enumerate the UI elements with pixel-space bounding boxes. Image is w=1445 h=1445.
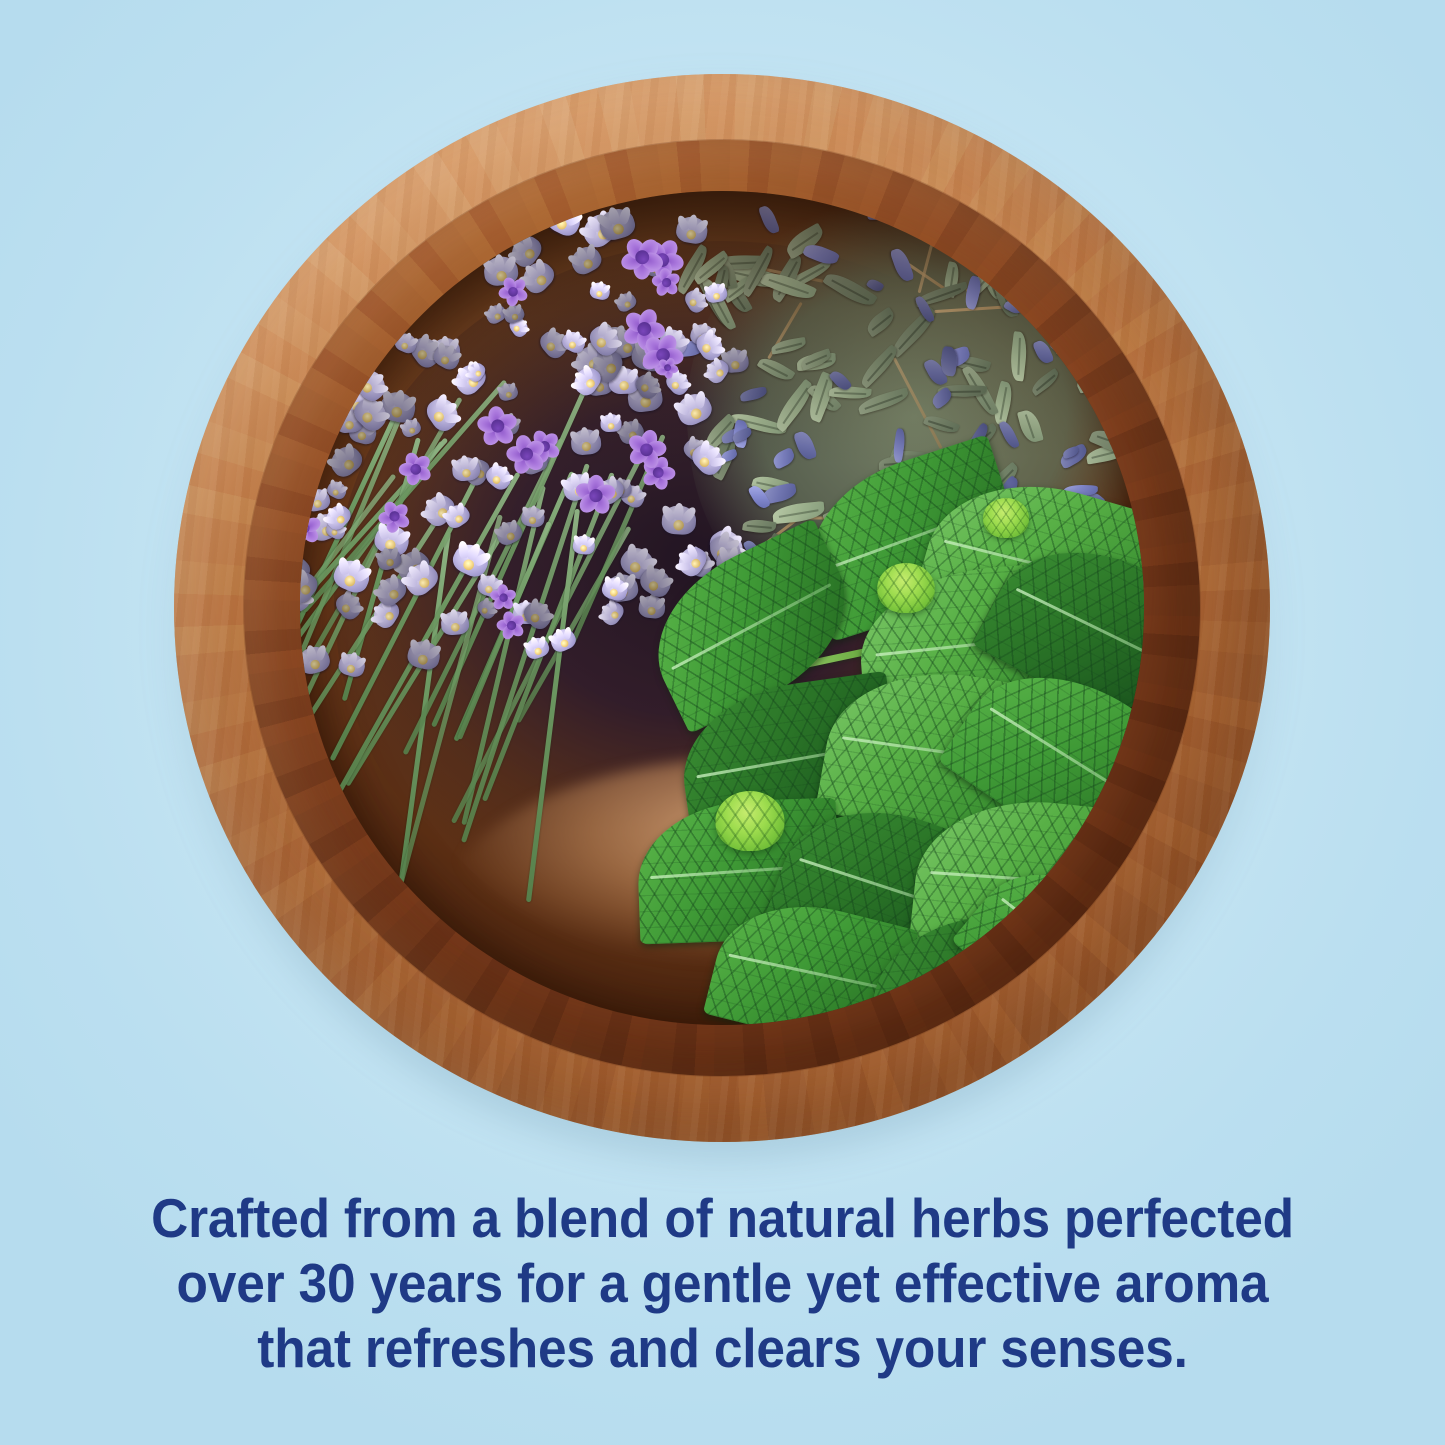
lavender-bloom — [495, 610, 527, 642]
lavender-bloom — [648, 265, 684, 301]
dried-twig — [934, 303, 1043, 313]
dried-sage-leaf — [987, 227, 1022, 247]
product-lifestyle-image: Crafted from a blend of natural herbs pe… — [0, 0, 1445, 1445]
dried-sage-leaf — [909, 191, 960, 229]
lavender-bloom — [300, 274, 342, 318]
lavender-floret — [704, 282, 729, 304]
lavender-floret — [675, 215, 710, 246]
dried-sage-leaf — [857, 344, 902, 389]
caption-line-3: that refreshes and clears your senses. — [257, 1317, 1187, 1379]
dried-lavender-bud — [991, 198, 1023, 216]
lavender-floret — [440, 610, 470, 636]
mint-sprout — [983, 498, 1029, 538]
dried-sage-leaf — [863, 307, 898, 338]
dried-lavender-bud — [962, 275, 983, 310]
lavender-floret — [326, 441, 367, 482]
dried-sage-leaf — [1029, 369, 1062, 397]
dried-sage-leaf — [924, 413, 961, 437]
dried-sage-leaf — [1073, 360, 1119, 394]
caption-block: Crafted from a blend of natural herbs pe… — [47, 1186, 1398, 1381]
lavender-floret — [570, 428, 602, 456]
lavender-floret — [597, 598, 627, 629]
lavender-bloom — [655, 355, 681, 381]
caption-line-2: over 30 years for a gentle yet effective… — [177, 1252, 1269, 1314]
lavender-floret — [333, 589, 366, 623]
lavender-floret — [337, 651, 368, 679]
lavender-floret — [662, 505, 698, 536]
dried-sage-leaf — [1009, 332, 1030, 382]
caption-line-1: Crafted from a blend of natural herbs pe… — [151, 1187, 1294, 1249]
lavender-floret — [451, 456, 481, 482]
dried-lavender-bud — [879, 202, 910, 218]
dried-sage-leaf — [1056, 344, 1102, 367]
dried-sage-leaf — [1017, 408, 1044, 445]
lavender-floret — [572, 535, 596, 556]
lavender-floret — [600, 414, 622, 433]
bowl-contents — [300, 191, 1144, 1024]
lavender-floret — [589, 280, 612, 301]
lavender-floret — [520, 505, 546, 528]
lavender-bloom — [374, 497, 414, 537]
mint-sprout — [715, 791, 784, 851]
mint-sprout — [877, 563, 935, 613]
wooden-bowl — [174, 74, 1270, 1142]
dried-lavender-bud — [998, 420, 1020, 451]
